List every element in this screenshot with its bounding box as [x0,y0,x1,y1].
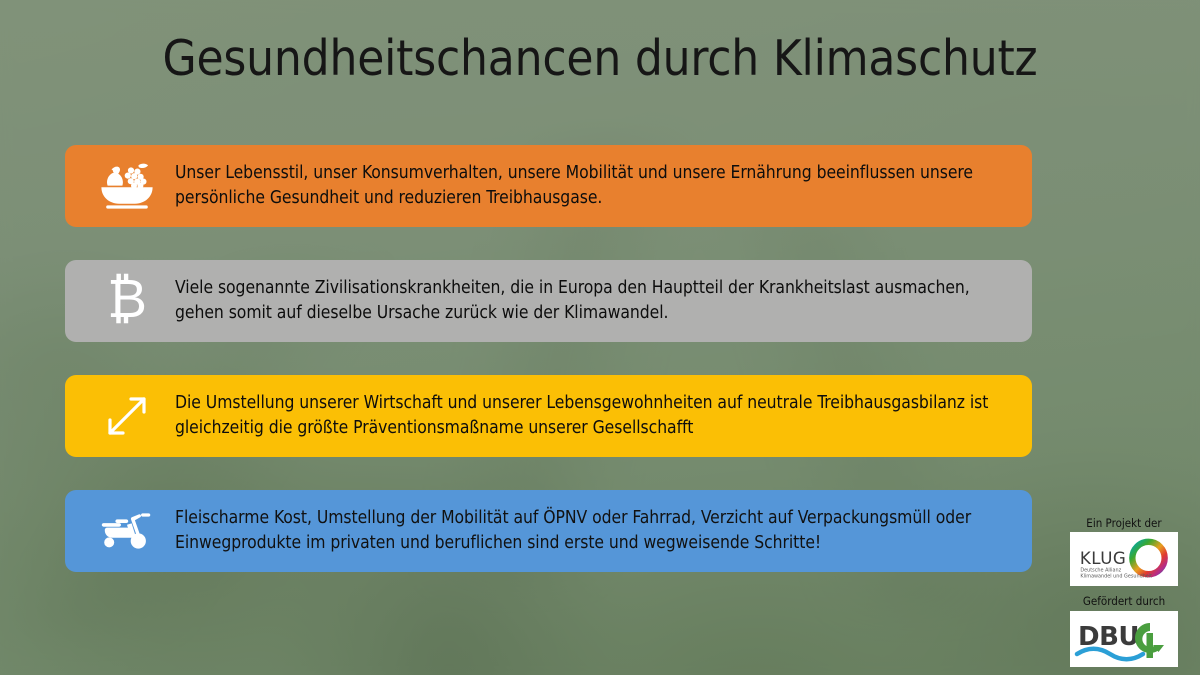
card-actions-text: Fleischarme Kost, Umstellung der Mobilit… [175,506,1014,555]
dbu-logo: DBU [1070,611,1178,667]
funding-caption: Gefördert durch [1058,595,1190,608]
slide-canvas: Gesundheitschancen durch Klimaschutz [0,0,1200,675]
card-list: Unser Lebensstil, unser Konsumverhalten,… [65,145,1032,605]
page-title: Gesundheitschancen durch Klimaschutz [0,32,1200,86]
svg-text:Deutsche Allianz: Deutsche Allianz [1080,568,1121,574]
svg-text:KLUG: KLUG [1080,549,1126,568]
svg-text:Klimawandel und Gesundheit: Klimawandel und Gesundheit [1080,574,1152,580]
bitcoin-icon: ₿ [79,273,175,329]
bitcoin-glyph: ₿ [107,272,147,326]
card-transformation-text: Die Umstellung unserer Wirtschaft und un… [175,391,1014,440]
logo-block: Ein Projekt der KLUG Deutsche Allianz [1058,517,1190,667]
card-transformation[interactable]: Die Umstellung unserer Wirtschaft und un… [65,375,1032,457]
card-lifestyle-text: Unser Lebensstil, unser Konsumverhalten,… [175,161,1014,210]
fruit-bowl-icon [79,158,175,214]
card-diseases[interactable]: ₿ Viele sogenannte Zivilisationskrankhei… [65,260,1032,342]
klug-logo: KLUG Deutsche Allianz Klimawandel und Ge… [1070,532,1178,586]
card-actions[interactable]: Fleischarme Kost, Umstellung der Mobilit… [65,490,1032,572]
card-lifestyle[interactable]: Unser Lebensstil, unser Konsumverhalten,… [65,145,1032,227]
project-caption: Ein Projekt der [1058,517,1190,530]
diagonal-arrows-icon [79,388,175,444]
scooter-icon [79,503,175,559]
card-diseases-text: Viele sogenannte Zivilisationskrankheite… [175,276,1014,325]
